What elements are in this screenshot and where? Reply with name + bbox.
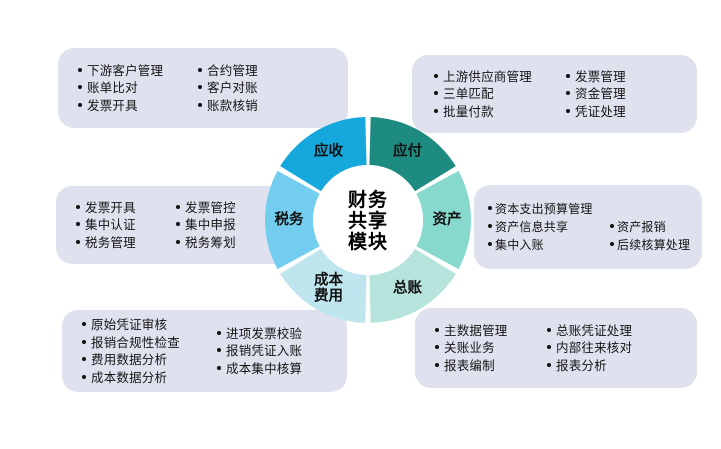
panel-tax[interactable]: 发票开具 集中认证 税务管理 发票管控 集中申报 税务筹划 bbox=[56, 186, 293, 264]
donut-wheel: 财务共享模块 应收应付资产总账成本费用税务 bbox=[263, 115, 473, 325]
panel-asset-row-1: 资本支出预算管理 bbox=[488, 200, 702, 218]
bullet-icon bbox=[76, 240, 80, 244]
panel-asset[interactable]: 资本支出预算管理 资产信息共享 资产报销 集中入账 后续核算处理 bbox=[474, 185, 702, 269]
list-item: 发票开具 bbox=[78, 97, 198, 115]
bullet-icon bbox=[76, 222, 80, 226]
bullet-icon bbox=[176, 205, 180, 209]
list-item: 成本数据分析 bbox=[82, 369, 217, 387]
list-item: 合约管理 bbox=[198, 62, 258, 80]
list-item: 账单比对 bbox=[78, 79, 198, 97]
list-item: 资本支出预算管理 bbox=[488, 200, 610, 218]
panel-tax-column-1: 发票开具 集中认证 税务管理 bbox=[76, 199, 176, 252]
list-item: 税务筹划 bbox=[176, 234, 236, 252]
bullet-icon bbox=[82, 340, 86, 344]
bullet-icon bbox=[547, 328, 551, 332]
segment-label-cost: 成本费用 bbox=[314, 270, 343, 304]
bullet-icon bbox=[434, 91, 438, 95]
panel-general-ledger-column-2: 总账凭证处理 内部往来核对 报表分析 bbox=[547, 322, 632, 375]
list-item: 发票管理 bbox=[566, 68, 626, 86]
bullet-icon bbox=[435, 345, 439, 349]
bullet-icon bbox=[78, 103, 82, 107]
bullet-icon bbox=[198, 85, 202, 89]
bullet-icon bbox=[78, 68, 82, 72]
bullet-icon bbox=[434, 109, 438, 113]
bullet-icon bbox=[435, 363, 439, 367]
panel-payable-column-2: 发票管理 资金管理 凭证处理 bbox=[566, 68, 626, 121]
panel-cost-column-1: 原始凭证审核 报销合规性检查 费用数据分析 成本数据分析 bbox=[82, 316, 217, 386]
bullet-icon bbox=[566, 91, 570, 95]
list-item: 后续核算处理 bbox=[610, 236, 690, 254]
list-item: 账款核销 bbox=[198, 97, 258, 115]
list-item: 客户对账 bbox=[198, 79, 258, 97]
bullet-icon bbox=[488, 224, 492, 228]
panel-cost-column-2: 进项发票校验 报销凭证入账 成本集中核算 bbox=[217, 316, 302, 386]
bullet-icon bbox=[488, 242, 492, 246]
list-item: 关账业务 bbox=[435, 339, 547, 357]
list-item: 报销合规性检查 bbox=[82, 334, 217, 352]
bullet-icon bbox=[82, 357, 86, 361]
panel-asset-row-2: 资产信息共享 资产报销 bbox=[488, 218, 702, 236]
bullet-icon bbox=[610, 224, 614, 228]
bullet-icon bbox=[434, 74, 438, 78]
panel-tax-column-2: 发票管控 集中申报 税务筹划 bbox=[176, 199, 236, 252]
bullet-icon bbox=[566, 109, 570, 113]
bullet-icon bbox=[76, 205, 80, 209]
list-item: 总账凭证处理 bbox=[547, 322, 632, 340]
bullet-icon bbox=[435, 328, 439, 332]
diagram-canvas: 下游客户管理 账单比对 发票开具 合约管理 客户对账 账款核销 上游供应商管理 … bbox=[0, 0, 721, 449]
list-item: 下游客户管理 bbox=[78, 62, 198, 80]
donut-svg: 财务共享模块 应收应付资产总账成本费用税务 bbox=[263, 115, 473, 325]
bullet-icon bbox=[198, 68, 202, 72]
panel-receivable-column-2: 合约管理 客户对账 账款核销 bbox=[198, 62, 258, 115]
list-item: 凭证处理 bbox=[566, 103, 626, 121]
bullet-icon bbox=[217, 348, 221, 352]
bullet-icon bbox=[176, 222, 180, 226]
segment-label-receivable: 应收 bbox=[314, 142, 343, 160]
panel-receivable-column-1: 下游客户管理 账单比对 发票开具 bbox=[78, 62, 198, 115]
panel-asset-row-3: 集中入账 后续核算处理 bbox=[488, 236, 702, 254]
list-item: 税务管理 bbox=[76, 234, 176, 252]
segment-label-ledger: 总账 bbox=[393, 278, 422, 296]
panel-general-ledger-column-1: 主数据管理 关账业务 报表编制 bbox=[435, 322, 547, 375]
list-item: 资金管理 bbox=[566, 85, 626, 103]
segment-label-payable: 应付 bbox=[393, 142, 422, 160]
list-item: 上游供应商管理 bbox=[434, 68, 566, 86]
list-item: 资产报销 bbox=[610, 218, 666, 236]
list-item: 报销凭证入账 bbox=[217, 342, 302, 360]
list-item: 报表编制 bbox=[435, 357, 547, 375]
list-item: 发票开具 bbox=[76, 199, 176, 217]
bullet-icon bbox=[217, 366, 221, 370]
segment-label-asset: 资产 bbox=[433, 210, 462, 228]
hub-title-text: 财务共享模块 bbox=[348, 188, 388, 253]
list-item: 集中申报 bbox=[176, 216, 236, 234]
bullet-icon bbox=[78, 85, 82, 89]
list-item: 进项发票校验 bbox=[217, 325, 302, 343]
list-item: 费用数据分析 bbox=[82, 351, 217, 369]
list-item: 集中认证 bbox=[76, 216, 176, 234]
list-item: 集中入账 bbox=[488, 236, 610, 254]
list-item: 原始凭证审核 bbox=[82, 316, 217, 334]
list-item: 成本集中核算 bbox=[217, 360, 302, 378]
list-item: 三单匹配 bbox=[434, 85, 566, 103]
segment-label-tax: 税务 bbox=[275, 210, 304, 228]
hub-title: 财务共享模块 bbox=[348, 188, 388, 253]
bullet-icon bbox=[176, 240, 180, 244]
bullet-icon bbox=[566, 74, 570, 78]
bullet-icon bbox=[198, 103, 202, 107]
bullet-icon bbox=[82, 322, 86, 326]
list-item: 报表分析 bbox=[547, 357, 632, 375]
list-item: 内部往来核对 bbox=[547, 339, 632, 357]
bullet-icon bbox=[82, 375, 86, 379]
bullet-icon bbox=[488, 206, 492, 210]
bullet-icon bbox=[547, 363, 551, 367]
bullet-icon bbox=[610, 242, 614, 246]
bullet-icon bbox=[217, 331, 221, 335]
list-item: 发票管控 bbox=[176, 199, 236, 217]
panel-payable-column-1: 上游供应商管理 三单匹配 批量付款 bbox=[434, 68, 566, 121]
bullet-icon bbox=[547, 345, 551, 349]
list-item: 资产信息共享 bbox=[488, 218, 610, 236]
